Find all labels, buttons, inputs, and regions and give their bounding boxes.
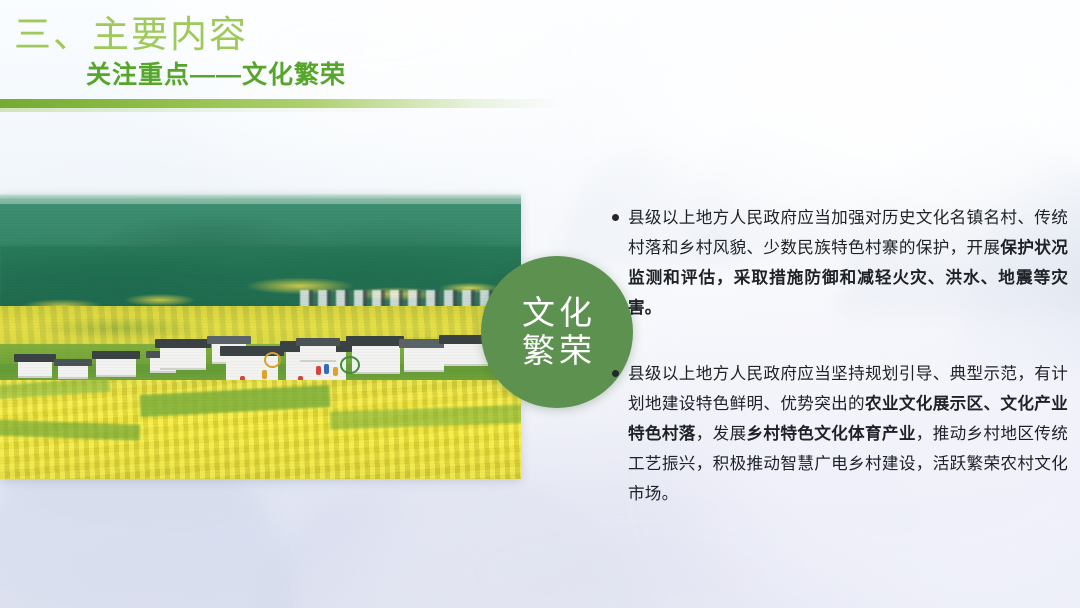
- page-title: 三、主要内容: [14, 4, 248, 58]
- bullet-dot-icon: [612, 203, 626, 323]
- bullet-dot-icon: [612, 359, 626, 509]
- bullet-paragraph-2: 县级以上地方人民政府应当坚持规划引导、典型示范，有计划地建设特色鲜明、优势突出的…: [628, 359, 1068, 509]
- content-body: 县级以上地方人民政府应当加强对历史文化名镇名村、传统村落和乡村风貌、少数民族特色…: [612, 203, 1068, 509]
- header-accent-bar: [0, 99, 560, 108]
- culture-prosperity-badge: 文化 繁荣: [481, 256, 633, 408]
- badge-line-1: 文化: [518, 294, 596, 332]
- slide-header: 三、主要内容 关注重点——文化繁荣: [0, 0, 1080, 112]
- bullet-paragraph-1: 县级以上地方人民政府应当加强对历史文化名镇名村、传统村落和乡村风貌、少数民族特色…: [628, 203, 1068, 323]
- badge-line-2: 繁荣: [518, 332, 596, 370]
- bullet-item: 县级以上地方人民政府应当加强对历史文化名镇名村、传统村落和乡村风貌、少数民族特色…: [612, 203, 1068, 323]
- photo-grain-overlay: [0, 194, 521, 479]
- slide-root: 三、主要内容 关注重点——文化繁荣: [0, 0, 1080, 608]
- village-photo: [0, 194, 521, 479]
- bullet-item: 县级以上地方人民政府应当坚持规划引导、典型示范，有计划地建设特色鲜明、优势突出的…: [612, 359, 1068, 509]
- header-accent-bar-shadow: [0, 108, 430, 112]
- page-subtitle: 关注重点——文化繁荣: [86, 55, 346, 91]
